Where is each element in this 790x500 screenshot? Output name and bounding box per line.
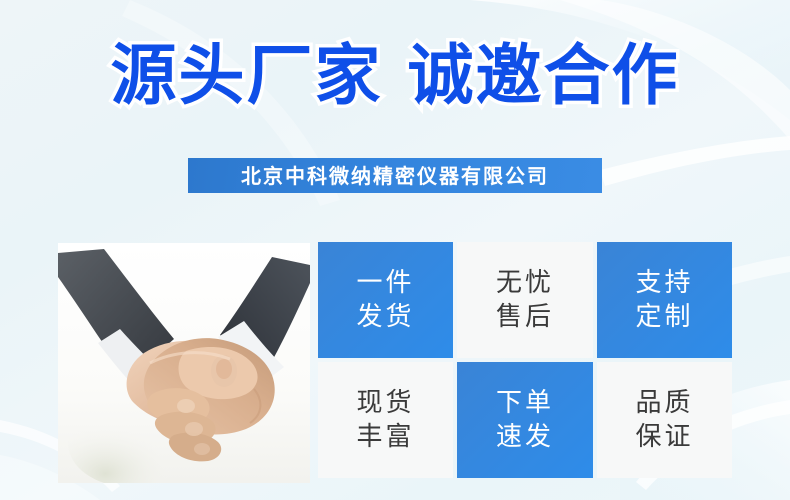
company-name-bar: 北京中科微纳精密仪器有限公司 xyxy=(188,158,602,193)
company-name-label: 北京中科微纳精密仪器有限公司 xyxy=(241,166,549,186)
feature-cell-3-line2: 定制 xyxy=(635,300,693,334)
feature-cell-4-line1: 现货 xyxy=(356,386,414,420)
feature-cell-5-line1: 下单 xyxy=(496,386,554,420)
feature-cell-1-line1: 一件 xyxy=(356,266,414,300)
feature-cell-1-line2: 发货 xyxy=(356,300,414,334)
handshake-photo xyxy=(58,243,310,483)
feature-cell-2-line1: 无忧 xyxy=(496,266,554,300)
feature-cell-6-line2: 保证 xyxy=(635,420,693,454)
feature-cell-5-line2: 速发 xyxy=(496,420,554,454)
feature-cell-4: 现货 丰富 xyxy=(318,362,453,478)
feature-cell-3: 支持 定制 xyxy=(597,242,732,358)
feature-cell-5: 下单 速发 xyxy=(457,362,593,478)
feature-cell-3-line1: 支持 xyxy=(635,266,693,300)
feature-grid: 一件 发货 无忧 售后 支持 定制 现货 丰富 下单 速发 品质 保证 xyxy=(318,242,732,478)
feature-cell-2: 无忧 售后 xyxy=(457,242,593,358)
page-title: 源头厂家 诚邀合作 xyxy=(0,38,790,114)
feature-cell-1: 一件 发货 xyxy=(318,242,453,358)
feature-cell-6: 品质 保证 xyxy=(597,362,732,478)
promo-banner: 源头厂家 诚邀合作 北京中科微纳精密仪器有限公司 xyxy=(0,0,790,500)
feature-cell-6-line1: 品质 xyxy=(635,386,693,420)
feature-cell-2-line2: 售后 xyxy=(496,300,554,334)
feature-cell-4-line2: 丰富 xyxy=(356,420,414,454)
